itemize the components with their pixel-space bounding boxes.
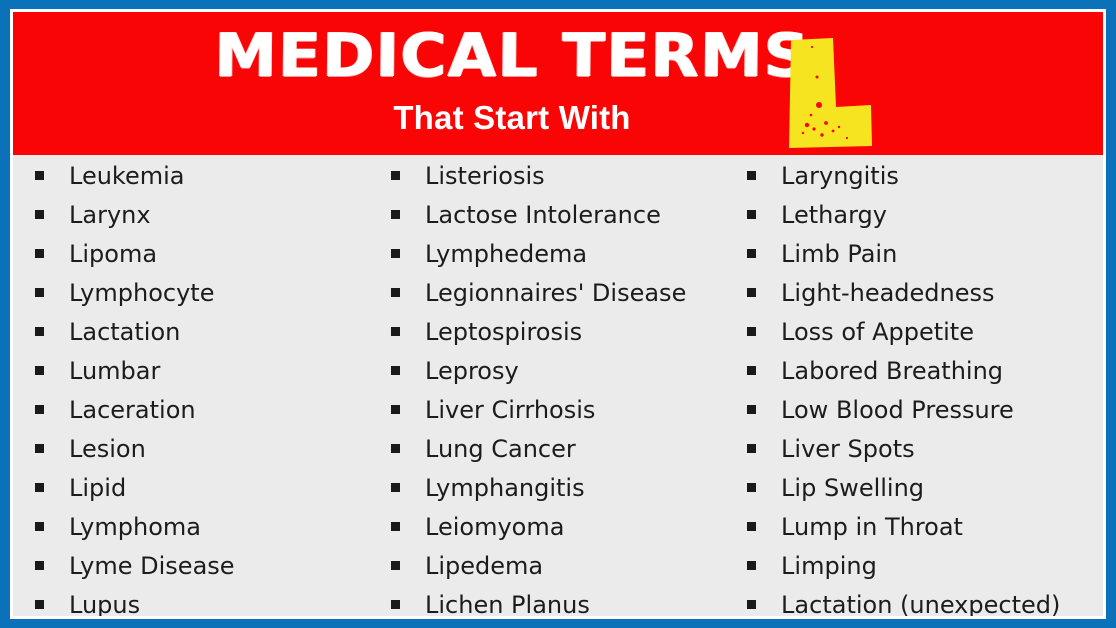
bullet-square-icon — [35, 522, 44, 531]
list-item[interactable]: Lactose Intolerance — [391, 200, 727, 239]
term-label: Leptospirosis — [425, 317, 727, 347]
term-label: Lichen Planus — [425, 590, 727, 616]
list-item[interactable]: Legionnaires' Disease — [391, 278, 727, 317]
list-item[interactable]: Lethargy — [747, 200, 1103, 239]
list-item[interactable]: Lump in Throat — [747, 512, 1103, 551]
poster-header: MEDICAL TERMS That Start With — [13, 12, 1103, 155]
list-item[interactable]: Lung Cancer — [391, 434, 727, 473]
list-item[interactable]: Laryngitis — [747, 161, 1103, 200]
term-label: Lumbar — [69, 356, 379, 386]
list-item[interactable]: Labored Breathing — [747, 356, 1103, 395]
bullet-square-icon — [35, 210, 44, 219]
bullet-square-icon — [35, 483, 44, 492]
terms-column-3: Laryngitis Lethargy Limb Pain Light-head… — [727, 155, 1103, 616]
bullet-square-icon — [747, 483, 756, 492]
bullet-square-icon — [35, 249, 44, 258]
bullet-square-icon — [35, 444, 44, 453]
list-item[interactable]: Lymphocyte — [35, 278, 379, 317]
poster-inner: MEDICAL TERMS That Start With — [10, 9, 1106, 619]
term-label: Labored Breathing — [781, 356, 1103, 386]
list-item[interactable]: Larynx — [35, 200, 379, 239]
bullet-square-icon — [747, 249, 756, 258]
bullet-square-icon — [391, 522, 400, 531]
title-row: MEDICAL TERMS — [13, 25, 1103, 87]
bullet-square-icon — [747, 288, 756, 297]
term-label: Lethargy — [781, 200, 1103, 230]
term-label: Liver Cirrhosis — [425, 395, 727, 425]
term-label: Limping — [781, 551, 1103, 581]
bullet-square-icon — [391, 327, 400, 336]
terms-body: Leukemia Larynx Lipoma Lymphocyte Lactat… — [13, 155, 1103, 616]
list-item[interactable]: Liver Cirrhosis — [391, 395, 727, 434]
term-label: Limb Pain — [781, 239, 1103, 269]
list-item[interactable]: Liver Spots — [747, 434, 1103, 473]
bullet-square-icon — [747, 210, 756, 219]
terms-column-1: Leukemia Larynx Lipoma Lymphocyte Lactat… — [13, 155, 379, 616]
bullet-square-icon — [35, 366, 44, 375]
bullet-square-icon — [747, 327, 756, 336]
bullet-square-icon — [35, 561, 44, 570]
term-label: Legionnaires' Disease — [425, 278, 727, 308]
bullet-square-icon — [747, 366, 756, 375]
bullet-square-icon — [35, 288, 44, 297]
list-item[interactable]: Light-headedness — [747, 278, 1103, 317]
list-item[interactable]: Limping — [747, 551, 1103, 590]
list-item[interactable]: Leptospirosis — [391, 317, 727, 356]
bullet-square-icon — [747, 444, 756, 453]
term-label: Liver Spots — [781, 434, 1103, 464]
page-subtitle: That Start With — [393, 100, 630, 136]
bullet-square-icon — [391, 249, 400, 258]
term-label: Lesion — [69, 434, 379, 464]
bullet-square-icon — [35, 405, 44, 414]
term-label: Leprosy — [425, 356, 727, 386]
term-label: Laceration — [69, 395, 379, 425]
term-label: Lipedema — [425, 551, 727, 581]
poster-frame: MEDICAL TERMS That Start With — [0, 0, 1116, 628]
list-item[interactable]: Leprosy — [391, 356, 727, 395]
term-label: Lymphedema — [425, 239, 727, 269]
list-item[interactable]: Lipedema — [391, 551, 727, 590]
list-item[interactable]: Lip Swelling — [747, 473, 1103, 512]
bullet-square-icon — [747, 405, 756, 414]
list-item[interactable]: Lactation (unexpected) — [747, 590, 1103, 616]
term-label: Lymphoma — [69, 512, 379, 542]
list-item[interactable]: Leiomyoma — [391, 512, 727, 551]
list-item[interactable]: Lactation — [35, 317, 379, 356]
term-label: Lactation (unexpected) — [781, 590, 1103, 616]
list-item[interactable]: Limb Pain — [747, 239, 1103, 278]
big-letter-l-icon — [781, 37, 873, 149]
terms-column-2: Listeriosis Lactose Intolerance Lymphede… — [379, 155, 727, 616]
bullet-square-icon — [391, 483, 400, 492]
bullet-square-icon — [747, 561, 756, 570]
term-label: Lip Swelling — [781, 473, 1103, 503]
term-label: Leiomyoma — [425, 512, 727, 542]
list-item[interactable]: Lymphangitis — [391, 473, 727, 512]
bullet-square-icon — [391, 171, 400, 180]
list-item[interactable]: Laceration — [35, 395, 379, 434]
term-label: Loss of Appetite — [781, 317, 1103, 347]
term-label: Leukemia — [69, 161, 379, 191]
list-item[interactable]: Lupus — [35, 590, 379, 616]
term-label: Lactose Intolerance — [425, 200, 727, 230]
term-label: Lymphangitis — [425, 473, 727, 503]
term-label: Lyme Disease — [69, 551, 379, 581]
term-label: Lipoma — [69, 239, 379, 269]
term-label: Lactation — [69, 317, 379, 347]
term-label: Lung Cancer — [425, 434, 727, 464]
list-item[interactable]: Lymphedema — [391, 239, 727, 278]
bullet-square-icon — [35, 171, 44, 180]
list-item[interactable]: Lesion — [35, 434, 379, 473]
term-label: Listeriosis — [425, 161, 727, 191]
bullet-square-icon — [747, 522, 756, 531]
term-label: Lipid — [69, 473, 379, 503]
bullet-square-icon — [35, 600, 44, 609]
term-label: Lump in Throat — [781, 512, 1103, 542]
bullet-square-icon — [35, 327, 44, 336]
term-label: Laryngitis — [781, 161, 1103, 191]
list-item[interactable]: Loss of Appetite — [747, 317, 1103, 356]
page-title: MEDICAL TERMS — [214, 25, 810, 87]
bullet-square-icon — [747, 600, 756, 609]
list-item[interactable]: Leukemia — [35, 161, 379, 200]
bullet-square-icon — [391, 600, 400, 609]
list-item[interactable]: Lipoma — [35, 239, 379, 278]
term-label: Lymphocyte — [69, 278, 379, 308]
subtitle-row: That Start With — [13, 100, 1103, 136]
bullet-square-icon — [391, 288, 400, 297]
bullet-square-icon — [391, 210, 400, 219]
bullet-square-icon — [391, 561, 400, 570]
list-item[interactable]: Lyme Disease — [35, 551, 379, 590]
term-label: Low Blood Pressure — [781, 395, 1103, 425]
list-item[interactable]: Lipid — [35, 473, 379, 512]
bullet-square-icon — [391, 444, 400, 453]
term-label: Lupus — [69, 590, 379, 616]
term-label: Light-headedness — [781, 278, 1103, 308]
bullet-square-icon — [391, 366, 400, 375]
list-item[interactable]: Lumbar — [35, 356, 379, 395]
term-label: Larynx — [69, 200, 379, 230]
list-item[interactable]: Low Blood Pressure — [747, 395, 1103, 434]
list-item[interactable]: Listeriosis — [391, 161, 727, 200]
bullet-square-icon — [391, 405, 400, 414]
list-item[interactable]: Lichen Planus — [391, 590, 727, 616]
list-item[interactable]: Lymphoma — [35, 512, 379, 551]
bullet-square-icon — [747, 171, 756, 180]
